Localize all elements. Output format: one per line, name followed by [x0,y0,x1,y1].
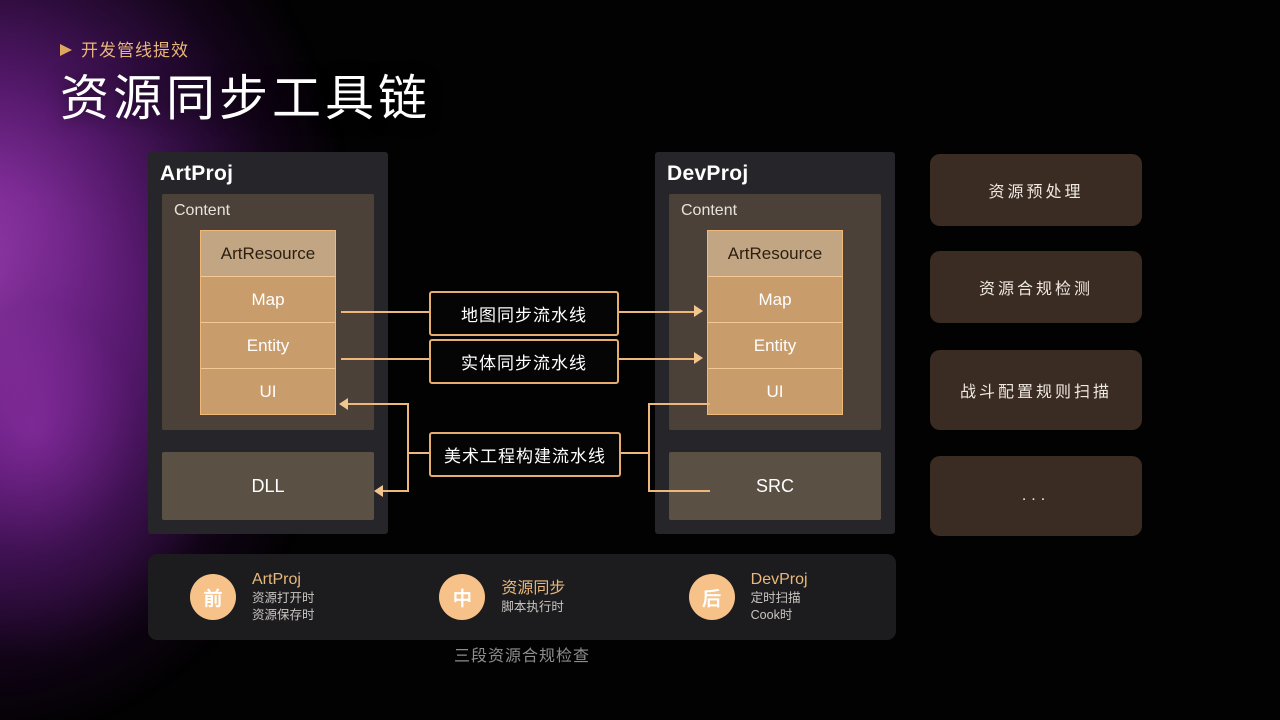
connector-build-box-right-stub [617,452,650,454]
arrowhead-map-to-devproj [694,305,703,317]
stage-item-post[interactable]: 后 DevProj 定时扫描 Cook时 [647,570,896,624]
panel-artproj: ArtProj Content ArtResource Map Entity U… [148,152,388,534]
devproj-row-entity: Entity [708,323,842,369]
stage-line-post-2: Cook时 [751,607,808,624]
devproj-content-label: Content [681,202,737,220]
slide-root: 开发管线提效 资源同步工具链 ArtProj Content ArtResour… [0,0,1280,720]
pipeline-art-build[interactable]: 美术工程构建流水线 [429,432,621,477]
pipeline-entity-sync[interactable]: 实体同步流水线 [429,339,619,384]
connector-artproj-bracket-vertical [407,403,409,492]
connector-build-to-artproj-ui [348,403,409,405]
diagram-canvas: ArtProj Content ArtResource Map Entity U… [0,0,1280,720]
stage-badge-pre: 前 [190,574,236,620]
connector-entity-right [615,358,696,360]
devproj-row-ui: UI [708,369,842,414]
connector-devproj-ui-out [648,403,710,405]
artproj-content-label: Content [174,202,230,220]
stage-title-mid: 资源同步 [501,579,565,599]
connector-build-box-left-stub [407,452,429,454]
artproj-row-ui: UI [201,369,335,414]
card-resource-preprocess[interactable]: 资源预处理 [930,154,1142,226]
arrowhead-build-to-ui [339,398,348,410]
arrowhead-build-to-dll [374,485,383,497]
stage-text-post: DevProj 定时扫描 Cook时 [751,570,808,624]
panel-artproj-title: ArtProj [160,162,233,186]
artproj-dll-box: DLL [162,452,374,520]
devproj-row-artresource: ArtResource [708,231,842,277]
artproj-row-map: Map [201,277,335,323]
connector-build-to-artproj-dll [383,490,409,492]
connector-devproj-bracket-vertical [648,403,650,492]
connector-devproj-src-out [648,490,710,492]
devproj-stack: ArtResource Map Entity UI [707,230,843,415]
card-battle-config-rule-scan[interactable]: 战斗配置规则扫描 [930,350,1142,430]
connector-map-right [615,311,696,313]
card-more[interactable]: ... [930,456,1142,536]
connector-entity-left [341,358,430,360]
stage-line-post-1: 定时扫描 [751,590,808,607]
stage-caption: 三段资源合规检查 [148,642,896,666]
devproj-src-box: SRC [669,452,881,520]
stage-item-pre[interactable]: 前 ArtProj 资源打开时 资源保存时 [148,570,397,624]
devproj-row-map: Map [708,277,842,323]
panel-devproj-title: DevProj [667,162,748,186]
artproj-row-entity: Entity [201,323,335,369]
stage-line-pre-2: 资源保存时 [252,607,315,624]
connector-map-left [341,311,430,313]
stage-bar: 前 ArtProj 资源打开时 资源保存时 中 资源同步 脚本执行时 后 Dev… [148,554,896,640]
artproj-stack: ArtResource Map Entity UI [200,230,336,415]
stage-badge-mid: 中 [439,574,485,620]
stage-item-mid[interactable]: 中 资源同步 脚本执行时 [397,574,646,620]
stage-title-pre: ArtProj [252,570,315,590]
arrowhead-entity-to-devproj [694,352,703,364]
stage-text-mid: 资源同步 脚本执行时 [501,579,565,616]
pipeline-map-sync[interactable]: 地图同步流水线 [429,291,619,336]
artproj-row-artresource: ArtResource [201,231,335,277]
stage-badge-post: 后 [689,574,735,620]
stage-title-post: DevProj [751,570,808,590]
stage-text-pre: ArtProj 资源打开时 资源保存时 [252,570,315,624]
panel-devproj: DevProj Content ArtResource Map Entity U… [655,152,895,534]
card-resource-compliance-check[interactable]: 资源合规检测 [930,251,1142,323]
stage-line-mid-1: 脚本执行时 [501,599,565,616]
stage-line-pre-1: 资源打开时 [252,590,315,607]
